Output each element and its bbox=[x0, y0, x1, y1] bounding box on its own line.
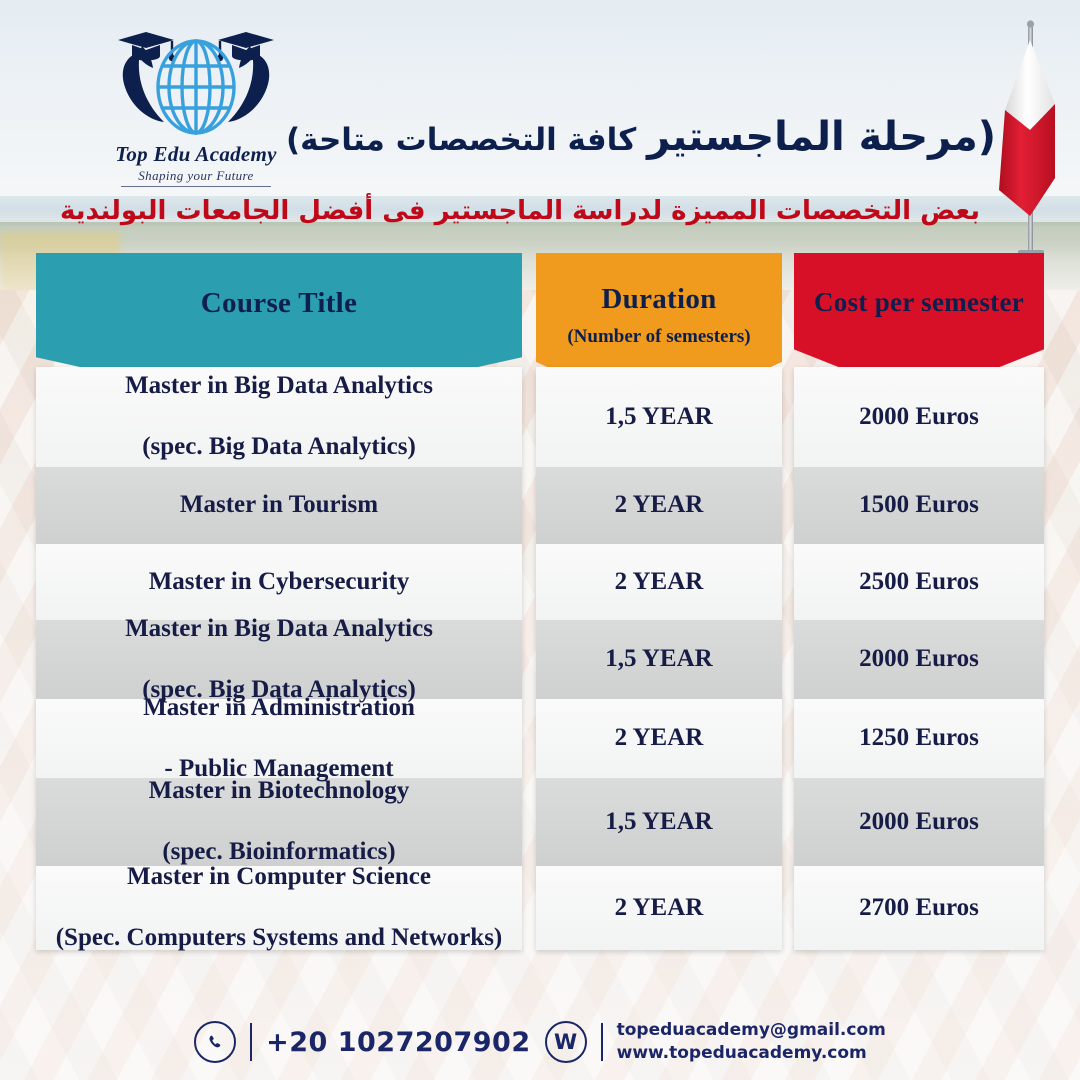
cell-text: 2000 Euros bbox=[859, 402, 979, 433]
cell-text: Master in Cybersecurity bbox=[149, 567, 410, 598]
footer-email[interactable]: topeduacademy@gmail.com bbox=[617, 1019, 886, 1042]
table-cell-cost: 1250 Euros bbox=[794, 699, 1044, 778]
logo-tagline: Shaping your Future bbox=[96, 168, 296, 184]
table-row: Master in Computer Science(Spec. Compute… bbox=[36, 866, 522, 950]
footer-divider-2 bbox=[601, 1023, 603, 1061]
footer-website[interactable]: www.topeduacademy.com bbox=[617, 1042, 886, 1065]
table-cell-duration: 2 YEAR bbox=[536, 699, 782, 778]
phone-icon[interactable] bbox=[194, 1021, 236, 1063]
cell-text: 2 YEAR bbox=[615, 490, 704, 521]
table-cell-cost: 1500 Euros bbox=[794, 467, 1044, 544]
cell-text: (spec. Big Data Analytics) bbox=[125, 432, 433, 463]
logo-mark bbox=[96, 22, 296, 142]
column-header-label: Cost per semester bbox=[794, 289, 1044, 316]
cell-text: 2 YEAR bbox=[615, 723, 704, 754]
column-duration: Duration (Number of semesters) 1,5 YEAR … bbox=[536, 253, 782, 418]
cell-text: Master in Biotechnology bbox=[149, 776, 410, 807]
column-cost: Cost per semester 2000 Euros 1500 Euros … bbox=[794, 253, 1044, 399]
cell-text: 2 YEAR bbox=[615, 567, 704, 598]
headline-emphasis: (مرحلة الماجستير bbox=[647, 114, 996, 160]
footer-divider-1 bbox=[250, 1023, 252, 1061]
w-glyph: W bbox=[554, 1032, 577, 1053]
cell-text: 1250 Euros bbox=[859, 723, 979, 754]
cell-text: 2700 Euros bbox=[859, 893, 979, 924]
table-cell-duration: 1,5 YEAR bbox=[536, 620, 782, 699]
table-row: Master in Cybersecurity bbox=[36, 544, 522, 620]
cell-text: Master in Big Data Analytics bbox=[125, 371, 433, 402]
table-cell-duration: 1,5 YEAR bbox=[536, 367, 782, 467]
cell-text: Master in Big Data Analytics bbox=[125, 614, 433, 645]
cell-text: 2000 Euros bbox=[859, 644, 979, 675]
cell-text: 2500 Euros bbox=[859, 567, 979, 598]
poster-canvas: Top Edu Academy Shaping your Future bbox=[0, 0, 1080, 1080]
cell-text: Master in Tourism bbox=[180, 490, 378, 521]
cell-text: Master in Computer Science bbox=[56, 862, 503, 893]
table-cell-cost: 2700 Euros bbox=[794, 866, 1044, 950]
poland-flag-icon bbox=[985, 18, 1080, 258]
logo-underline bbox=[121, 186, 271, 187]
column-cells-cost: 2000 Euros 1500 Euros 2500 Euros 2000 Eu… bbox=[794, 367, 1044, 950]
column-cells-course-title: Master in Big Data Analytics(spec. Big D… bbox=[36, 367, 522, 950]
table-cell-duration: 2 YEAR bbox=[536, 866, 782, 950]
cell-text: 2 YEAR bbox=[615, 893, 704, 924]
column-header-label: Course Title bbox=[36, 289, 522, 318]
footer-contact-bar: +20 1027207902 W topeduacademy@gmail.com… bbox=[0, 1012, 1080, 1072]
cell-text: 1,5 YEAR bbox=[605, 402, 712, 433]
table-cell-duration: 1,5 YEAR bbox=[536, 778, 782, 866]
poland-flag bbox=[985, 18, 1080, 258]
academy-globe-graduates-icon bbox=[96, 22, 296, 142]
table-cell-cost: 2000 Euros bbox=[794, 778, 1044, 866]
cell-text: 2000 Euros bbox=[859, 807, 979, 838]
table-cell-duration: 2 YEAR bbox=[536, 544, 782, 620]
column-header-label: Duration bbox=[536, 285, 782, 314]
headline-rest: كافة التخصصات متاحة) bbox=[286, 122, 636, 158]
programs-table: Course Title Master in Big Data Analytic… bbox=[36, 253, 1044, 988]
table-cell-duration: 2 YEAR bbox=[536, 467, 782, 544]
footer-web-block: topeduacademy@gmail.com www.topeduacadem… bbox=[617, 1019, 886, 1065]
column-cells-duration: 1,5 YEAR 2 YEAR 2 YEAR 1,5 YEAR 2 YEAR 1… bbox=[536, 367, 782, 950]
table-row: Master in Administration- Public Managem… bbox=[36, 699, 522, 778]
table-cell-cost: 2000 Euros bbox=[794, 620, 1044, 699]
column-header-sublabel: (Number of semesters) bbox=[536, 327, 782, 346]
table-cell-cost: 2500 Euros bbox=[794, 544, 1044, 620]
table-row: Master in Big Data Analytics(spec. Big D… bbox=[36, 367, 522, 467]
table-row: Master in Tourism bbox=[36, 467, 522, 544]
phone-handset-icon bbox=[206, 1033, 225, 1052]
logo-name: Top Edu Academy bbox=[96, 144, 296, 165]
logo: Top Edu Academy Shaping your Future bbox=[96, 22, 296, 197]
cell-text: Master in Administration bbox=[143, 693, 415, 724]
table-cell-cost: 2000 Euros bbox=[794, 367, 1044, 467]
website-w-icon[interactable]: W bbox=[545, 1021, 587, 1063]
table-row: Master in Biotechnology(spec. Bioinforma… bbox=[36, 778, 522, 866]
cell-text: 1,5 YEAR bbox=[605, 807, 712, 838]
column-course-title: Course Title Master in Big Data Analytic… bbox=[36, 253, 522, 411]
cell-text: 1500 Euros bbox=[859, 490, 979, 521]
table-row: Master in Big Data Analytics(spec. Big D… bbox=[36, 620, 522, 699]
cell-text: (Spec. Computers Systems and Networks) bbox=[56, 923, 503, 954]
page-subheadline: بعض التخصصات المميزة لدراسة الماجستير فى… bbox=[80, 196, 980, 227]
cell-text: 1,5 YEAR bbox=[605, 644, 712, 675]
footer-phone[interactable]: +20 1027207902 bbox=[266, 1027, 530, 1058]
page-headline: (مرحلة الماجستير كافة التخصصات متاحة) bbox=[276, 112, 996, 162]
